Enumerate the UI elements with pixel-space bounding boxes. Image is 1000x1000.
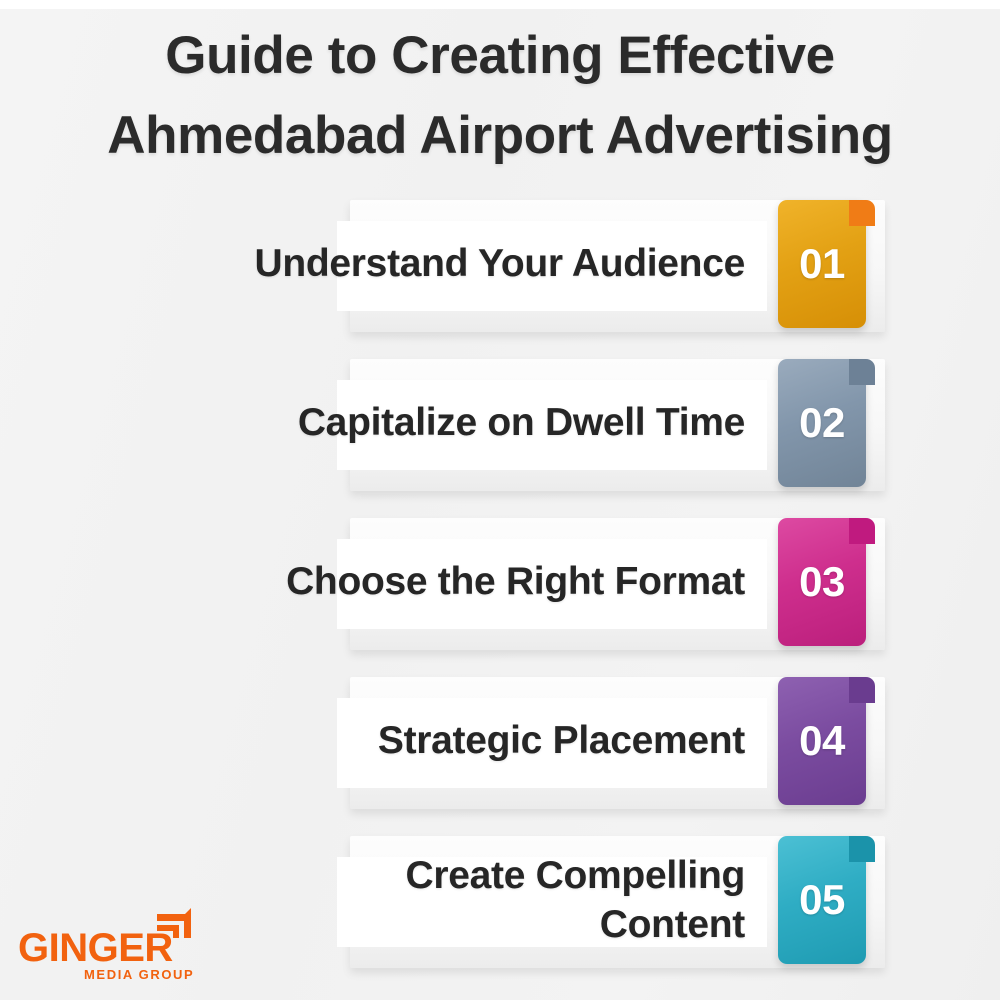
step-row: Strategic Placement04 [0, 673, 1000, 832]
step-number: 02 [799, 402, 845, 444]
step-corner-fold [849, 518, 875, 544]
step-row: Choose the Right Format03 [0, 514, 1000, 673]
logo-wordmark: GINGER [18, 928, 173, 968]
brand-logo: GINGER MEDIA GROUP [18, 904, 223, 982]
step-row: Capitalize on Dwell Time02 [0, 355, 1000, 514]
step-corner-fold [849, 836, 875, 862]
step-label: Strategic Placement [125, 673, 745, 810]
step-number: 05 [799, 879, 845, 921]
logo-tagline: MEDIA GROUP [84, 968, 194, 981]
step-badge-group: 02 [778, 355, 888, 495]
step-label: Choose the Right Format [125, 514, 745, 651]
step-row: Understand Your Audience01 [0, 196, 1000, 355]
step-label: Capitalize on Dwell Time [125, 355, 745, 492]
step-corner-fold [849, 677, 875, 703]
steps-list: Understand Your Audience01Capitalize on … [0, 196, 1000, 991]
step-label: Understand Your Audience [125, 196, 745, 333]
step-corner-fold [849, 359, 875, 385]
title-line-1: Guide to Creating Effective [0, 16, 1000, 96]
step-badge-group: 04 [778, 673, 888, 813]
step-number: 01 [799, 243, 845, 285]
step-corner-fold [849, 200, 875, 226]
step-number: 03 [799, 561, 845, 603]
page-title: Guide to Creating Effective Ahmedabad Ai… [0, 16, 1000, 175]
top-white-strip [0, 0, 1000, 9]
step-badge-group: 05 [778, 832, 888, 972]
step-badge-group: 01 [778, 196, 888, 336]
step-badge-group: 03 [778, 514, 888, 654]
title-line-2: Ahmedabad Airport Advertising [0, 96, 1000, 176]
step-number: 04 [799, 720, 845, 762]
infographic-poster: Guide to Creating Effective Ahmedabad Ai… [0, 0, 1000, 1000]
